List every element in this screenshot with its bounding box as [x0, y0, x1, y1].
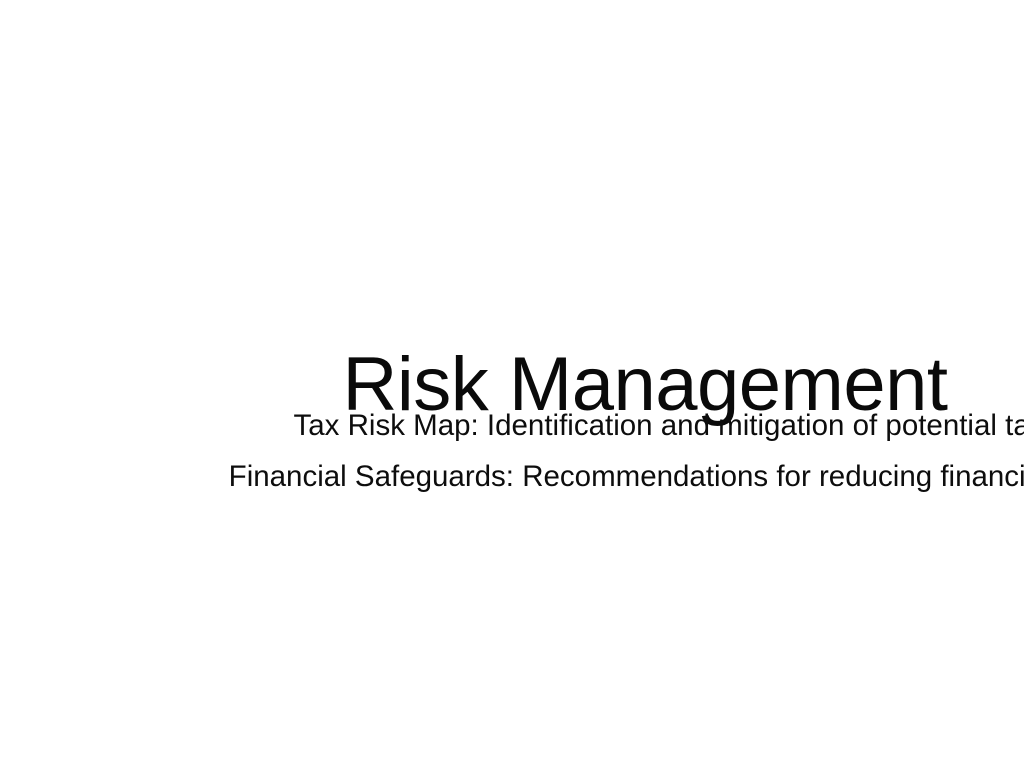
- presentation-slide: Risk Management Tax Risk Map: Identifica…: [0, 0, 1024, 768]
- slide-content-block: Risk Management Tax Risk Map: Identifica…: [0, 0, 1024, 768]
- slide-body-text: Tax Risk Map: Identification and mitigat…: [0, 406, 1024, 497]
- body-line-tax-risk-map: Tax Risk Map: Identification and mitigat…: [0, 406, 1024, 446]
- body-line-financial-safeguards: Financial Safeguards: Recommendations fo…: [0, 457, 1024, 497]
